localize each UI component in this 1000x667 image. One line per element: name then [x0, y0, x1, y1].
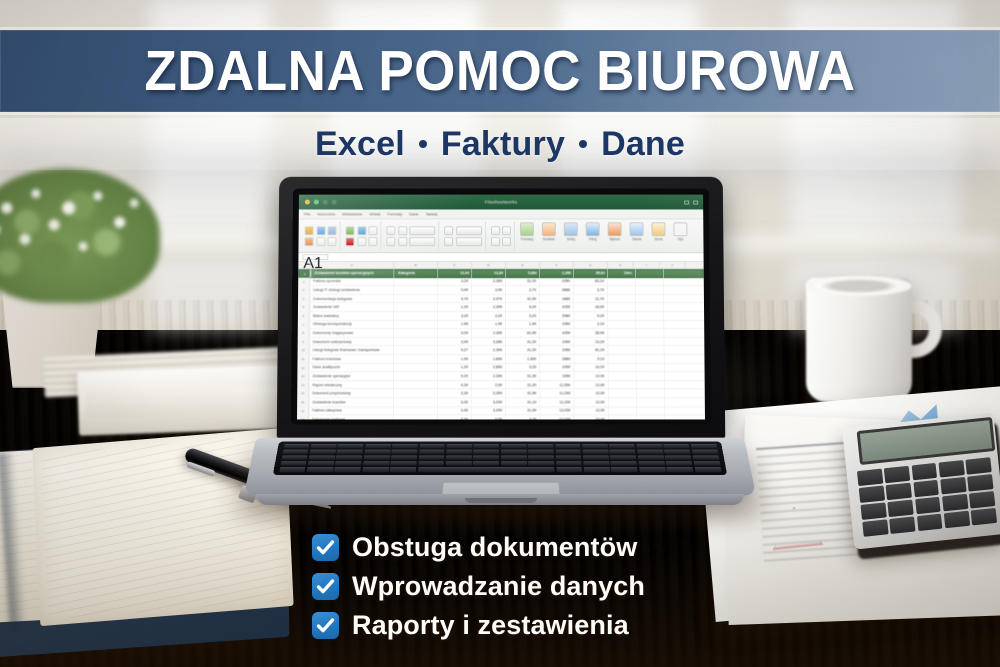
menu-item[interactable]: Widok	[369, 211, 380, 216]
cell-value[interactable]: 31,29	[506, 340, 540, 344]
column-header-e[interactable]: E	[506, 262, 540, 268]
cell-value[interactable]: 3,29	[438, 279, 472, 283]
list-item: Obstuga dokumentöw	[312, 532, 732, 563]
cell-value[interactable]: 11,039	[540, 400, 574, 404]
spreadsheet-grid[interactable]: 1Zestawienie kosztów operacyjnychKategor…	[297, 269, 705, 419]
mug-rim	[806, 276, 912, 296]
cell-value[interactable]: 31,99	[506, 391, 540, 395]
cell-value[interactable]: 19xx	[609, 271, 635, 275]
cell-description[interactable]: Dokumentacja ksiegowa	[310, 297, 394, 301]
laptop-lid-notch	[465, 498, 537, 503]
cell-value[interactable]: 1,396	[541, 271, 575, 275]
cell-value[interactable]: 3,289	[472, 340, 506, 344]
cell-description[interactable]: Zestawienie kosztów operacyjnych	[311, 271, 395, 275]
format-painter-icon[interactable]	[305, 237, 314, 246]
cell-description[interactable]: Ustugi ksiegowe finansowe i transportowe	[310, 348, 394, 352]
maximize-icon[interactable]	[693, 200, 698, 204]
cell-description[interactable]: Dokument przychodowy	[309, 391, 393, 395]
cell-value[interactable]: 13,44	[439, 271, 473, 275]
cell-value[interactable]: 3,39	[438, 400, 472, 404]
checklist-label: Obstuga dokumentöw	[352, 532, 637, 563]
spreadsheet-titlebar: Filesheetworkx	[299, 195, 703, 210]
merge-cells-button[interactable]	[409, 226, 435, 235]
ribbon-button-table[interactable]: Tabela	[627, 221, 647, 250]
cell-value[interactable]: 5,88x	[507, 271, 541, 275]
cell-value[interactable]: 3,99	[472, 288, 506, 292]
calculator-keys	[857, 457, 997, 537]
column-header-i[interactable]: I	[634, 262, 660, 268]
cell-value[interactable]: 81,29	[574, 348, 608, 352]
row-header[interactable]: 14	[297, 381, 309, 389]
bullet-separator-icon	[419, 140, 427, 148]
cell-value[interactable]: 13,84	[473, 271, 507, 275]
undo-icon[interactable]	[327, 237, 336, 246]
percent-icon[interactable]	[444, 226, 453, 235]
spreadsheet-title: Filesheetworkx	[299, 200, 703, 205]
cell-value[interactable]: 31,99	[506, 297, 540, 301]
cell-description[interactable]: Obstuga korespondencji	[310, 322, 394, 326]
row-header[interactable]: 1	[299, 270, 311, 277]
delete-cells-icon[interactable]	[502, 226, 511, 235]
cell-value[interactable]: 9,29	[574, 314, 608, 318]
cell-description[interactable]: Faktura zakupowa	[309, 409, 393, 413]
cell-value[interactable]: 1,999	[506, 357, 540, 361]
ribbon-button-format[interactable]: Formatuj	[517, 221, 537, 250]
cell-value[interactable]: 9,99	[438, 288, 472, 292]
table-row[interactable]: 5Zestawienie VAT1,292,3999,29105918,99	[298, 303, 704, 312]
italic-icon[interactable]	[357, 226, 366, 235]
align-center-icon[interactable]	[398, 226, 407, 235]
cell-value[interactable]: 13,99	[574, 391, 608, 395]
laptop-keyboard[interactable]	[277, 442, 723, 473]
format-cells-icon[interactable]	[491, 237, 500, 246]
ribbon-label: Suma	[654, 237, 662, 241]
borders-icon[interactable]	[368, 237, 377, 246]
sort-icon[interactable]	[564, 222, 578, 236]
plant-flowers	[0, 172, 156, 292]
cell-value[interactable]: 4,39	[438, 383, 472, 387]
cell-value[interactable]: 1,99	[472, 322, 506, 326]
ribbon-button-style[interactable]: Styl	[670, 221, 690, 250]
cell-value[interactable]: 1050	[540, 322, 574, 326]
cell-value[interactable]: 28,99	[574, 331, 608, 335]
menu-item[interactable]: Tabela	[426, 211, 438, 216]
cell-value[interactable]: 2,399	[472, 331, 506, 335]
cell-value[interactable]: 2,399	[472, 305, 506, 309]
cell-value[interactable]: 31,99	[506, 409, 540, 413]
cell-value[interactable]: 13,29	[574, 340, 608, 344]
cell-description[interactable]: Dokumenty magazynowe	[310, 331, 394, 335]
subtitle-part-dane: Dane	[601, 125, 685, 164]
cell-value[interactable]: 1059	[540, 331, 574, 335]
insert-cells-icon[interactable]	[491, 226, 500, 235]
row-header[interactable]: 11	[298, 355, 310, 363]
column-header-h[interactable]: H	[608, 262, 634, 268]
table-row[interactable]: 8Dokumenty magazynowe9,292,39981,9910592…	[298, 329, 705, 338]
cell-value[interactable]: 3,399	[472, 391, 506, 395]
cell-value[interactable]: 2,899	[472, 365, 506, 369]
table-row[interactable]: 18Dokumenty kadrowe3,393,993,2913,03913,…	[297, 416, 705, 420]
check-icon	[312, 573, 339, 600]
ribbon-label: Filtruj	[589, 237, 597, 241]
ribbon-button-sum[interactable]: Suma	[648, 221, 668, 250]
bold-icon[interactable]	[345, 226, 354, 235]
ribbon-group-font[interactable]	[342, 221, 381, 250]
table-format-icon[interactable]	[520, 222, 534, 236]
menu-item[interactable]: Formaty	[387, 211, 402, 216]
conditional-format-button[interactable]	[456, 226, 482, 235]
cell-value[interactable]: 81,99	[506, 331, 540, 335]
select-all-corner[interactable]	[298, 262, 310, 268]
cell-description[interactable]: Bilans kwartalny	[310, 314, 394, 318]
cell-description[interactable]: Raport miesieczny	[309, 383, 393, 387]
cell-value[interactable]: 31,39	[506, 374, 540, 378]
filter-icon[interactable]	[586, 222, 600, 236]
menu-item[interactable]: Wstawianie	[342, 211, 362, 216]
table-row[interactable]: 9Dokument rozliczeniowy3,993,28931,29105…	[298, 338, 705, 347]
row-header[interactable]: 6	[298, 312, 310, 320]
align-left-icon[interactable]	[386, 226, 395, 235]
cell-value[interactable]: 2886	[540, 288, 574, 292]
cell-value[interactable]: 13,29	[574, 365, 608, 369]
chart-icon[interactable]	[608, 222, 622, 236]
poster-subtitle: Excel Faktury Dane	[0, 118, 1000, 170]
column-header-b[interactable]: B	[394, 262, 438, 268]
cell-value[interactable]: 1050	[540, 279, 574, 283]
row-header[interactable]: 18	[297, 416, 309, 420]
table-row[interactable]: 3Ustugi IT obstugi zestawienia9,993,993,…	[298, 286, 704, 295]
cell-value[interactable]: 3,29	[438, 314, 472, 318]
table-row[interactable]: 10Ustugi ksiegowe finansowe i transporto…	[298, 346, 705, 355]
ribbon-group-styles[interactable]	[441, 221, 485, 250]
table-row[interactable]: 7Obstuga korespondencji1,991,991,9910503…	[298, 321, 704, 330]
list-item: Wprowadzanie danych	[312, 571, 732, 602]
cell-value[interactable]: 13,039	[540, 417, 574, 419]
poster-root: Filesheetworkx Plik Narzedzia Wstawianie…	[0, 0, 1000, 667]
checklist-label: Raporty i zestawienia	[352, 610, 629, 641]
cell-value[interactable]: 11,039	[540, 391, 574, 395]
name-box[interactable]: A1	[302, 254, 328, 260]
ribbon-group-clipboard[interactable]	[301, 221, 340, 250]
cell-value[interactable]: 85,6x	[575, 271, 609, 275]
table-row[interactable]: 4Dokumentacja ksiegowa9,792,97931,991889…	[298, 295, 704, 304]
number-format-select[interactable]	[409, 237, 435, 246]
cell-value[interactable]: 1059	[540, 348, 574, 352]
cut-icon[interactable]	[328, 226, 337, 235]
cell-value[interactable]: 2,399	[472, 374, 506, 378]
cell-value[interactable]: 3,299	[472, 400, 506, 404]
cell-value[interactable]: 13,99	[574, 374, 608, 378]
cell-value[interactable]: 13,99	[574, 417, 608, 419]
cell-value[interactable]: 11,79	[574, 297, 608, 301]
ribbon-group-alignment[interactable]	[383, 221, 439, 250]
cell-value[interactable]: 3,29	[506, 417, 540, 419]
cell-value[interactable]: 3,299	[472, 409, 506, 413]
ribbon-button-sort[interactable]: Sortuj	[561, 221, 581, 250]
bullet-separator-icon	[579, 140, 587, 148]
row-header[interactable]: 9	[298, 338, 310, 346]
laptop-screen: Filesheetworkx Plik Narzedzia Wstawianie…	[297, 195, 705, 420]
cell-value[interactable]: 3,79	[574, 288, 608, 292]
cell-value[interactable]: 2889	[540, 357, 574, 361]
cell-description[interactable]: Dokument rozliczeniowy	[310, 340, 394, 344]
minimize-icon[interactable]	[684, 200, 689, 204]
cell-value[interactable]: 1,99	[438, 322, 472, 326]
pivot-table-icon[interactable]	[630, 222, 644, 236]
menu-item[interactable]: Narzedzia	[317, 211, 335, 216]
row-header[interactable]: 12	[297, 364, 309, 372]
ribbon-button-merge[interactable]: Scalanie	[539, 221, 559, 250]
cell-value[interactable]: 1,899	[472, 357, 506, 361]
cell-value[interactable]: 13,99	[574, 400, 608, 404]
cell-description[interactable]: Zestawienie operacyjne	[309, 374, 393, 378]
checklist-label: Wprowadzanie danych	[352, 571, 645, 602]
cell-value[interactable]: 1059	[540, 340, 574, 344]
cell-description[interactable]: Dane analityczne	[309, 365, 393, 369]
cell-value[interactable]: 9,79	[438, 297, 472, 301]
spreadsheet-menubar[interactable]: Plik Narzedzia Wstawianie Widok Formaty …	[299, 209, 703, 219]
list-item: Raporty i zestawienia	[312, 610, 732, 641]
row-header[interactable]: 13	[297, 372, 309, 380]
feature-checklist: Obstuga dokumentöw Wprowadzanie danych R…	[312, 532, 732, 641]
table-row[interactable]: 16Zestawienie kosztów3,393,29931,1911,03…	[297, 398, 705, 407]
cell-value[interactable]: 1,29	[438, 365, 472, 369]
column-header-row[interactable]: A B C D E F G H I J	[298, 262, 703, 269]
ribbon-label: Formatuj	[521, 237, 534, 241]
fill-color-icon[interactable]	[357, 237, 366, 246]
cell-value[interactable]: 9,29	[438, 374, 472, 378]
column-header-c[interactable]: C	[438, 262, 472, 268]
cell-styles-button[interactable]	[456, 237, 482, 246]
autosum-icon[interactable]	[502, 237, 511, 246]
cell-value[interactable]: 1889	[540, 297, 574, 301]
styles-icon[interactable]	[673, 222, 687, 236]
table-row[interactable]: 2Faktura sprzedaz3,292,39931,29105083,19	[298, 278, 704, 287]
cell-value[interactable]: 13,99	[574, 409, 608, 413]
row-header[interactable]: 4	[298, 295, 310, 303]
cell-description[interactable]: Faktura kosztowa	[310, 357, 394, 361]
cell-value[interactable]: 3,99	[438, 340, 472, 344]
cell-value[interactable]: 11,059	[540, 383, 574, 387]
subtitle-part-faktury: Faktury	[441, 125, 565, 164]
column-header-a[interactable]: A	[310, 262, 394, 268]
copy-icon[interactable]	[316, 226, 325, 235]
comma-style-icon[interactable]	[444, 237, 453, 246]
cell-value[interactable]: 83,19	[574, 279, 608, 283]
column-header-j[interactable]: J	[660, 262, 686, 268]
coffee-mug	[806, 278, 912, 402]
cell-value[interactable]: 18,99	[574, 305, 608, 309]
cell-category[interactable]: Kategoria	[395, 271, 439, 275]
cell-description[interactable]: Dokumenty kadrowe	[309, 417, 393, 419]
font-color-icon[interactable]	[345, 237, 354, 246]
cell-value[interactable]: 1,99	[506, 322, 540, 326]
sum-icon[interactable]	[651, 222, 665, 236]
cell-value[interactable]: 31,19	[506, 400, 540, 404]
column-header-d[interactable]: D	[472, 262, 506, 268]
laptop: Filesheetworkx Plik Narzedzia Wstawianie…	[250, 176, 750, 516]
page-title: ZDALNA POMOC BIUROWA	[35, 30, 965, 112]
cell-value[interactable]: 3,79	[506, 288, 540, 292]
cell-value[interactable]: 31,29	[506, 279, 540, 283]
row-header[interactable]: 5	[298, 303, 310, 311]
cell-value[interactable]: 2089	[540, 314, 574, 318]
row-header[interactable]: 3	[298, 286, 310, 294]
laptop-screen-bezel: Filesheetworkx Plik Narzedzia Wstawianie…	[291, 189, 711, 425]
cell-value[interactable]: 13,99	[574, 383, 608, 387]
cell-value[interactable]: 13,039	[540, 409, 574, 413]
check-icon	[312, 612, 339, 639]
spreadsheet-ribbon[interactable]: Formatuj Scalanie Sortuj Filtruj	[298, 219, 703, 253]
ribbon-label: Wykres	[609, 237, 620, 241]
table-row[interactable]: 6Bilans kwartalny3,293,293,2920899,29	[298, 312, 704, 321]
cell-value[interactable]: 2,399	[472, 348, 506, 352]
cell-value[interactable]: 9,29	[438, 331, 472, 335]
cell-value[interactable]: 31,29	[506, 383, 540, 387]
cell-description[interactable]: Zestawienie VAT	[310, 305, 394, 309]
clipboard-icon[interactable]	[316, 237, 325, 246]
cell-value[interactable]: 9,27	[438, 348, 472, 352]
cell-value[interactable]: 1059	[540, 305, 574, 309]
table-row[interactable]: 14Raport miesieczny4,392,9931,2911,05913…	[297, 381, 704, 390]
table-row[interactable]: 17Faktura zakupowa3,393,29931,9913,03913…	[297, 407, 705, 416]
cell-description[interactable]: Faktura sprzedaz	[310, 279, 394, 283]
check-icon	[312, 534, 339, 561]
menu-item[interactable]: Plik	[304, 211, 310, 216]
cell-value[interactable]: 3,39	[438, 417, 472, 419]
cell-value[interactable]: 9,19	[574, 357, 608, 361]
merge-icon[interactable]	[542, 222, 556, 236]
formula-input[interactable]	[332, 254, 699, 260]
cell-value[interactable]: 2,99	[472, 383, 506, 387]
table-row[interactable]: 13Zestawienie operacyjne9,292,39931,3910…	[297, 372, 704, 381]
cell-value[interactable]: 3,29	[472, 314, 506, 318]
table-row[interactable]: 1Zestawienie kosztów operacyjnychKategor…	[298, 269, 704, 278]
ribbon-group-cells[interactable]	[488, 221, 515, 250]
cell-value[interactable]: 31,29	[506, 348, 540, 352]
cell-description[interactable]: Zestawienie kosztów	[309, 400, 393, 404]
cell-value[interactable]: 1059	[540, 374, 574, 378]
ribbon-button-chart[interactable]: Wykres	[605, 221, 625, 250]
table-row[interactable]: 15Dokument przychodowy3,393,39931,9911,0…	[297, 390, 705, 399]
cell-value[interactable]: 2,979	[472, 297, 506, 301]
formula-bar[interactable]: A1	[298, 253, 703, 262]
cell-value[interactable]: 1,99	[438, 357, 472, 361]
row-header[interactable]: 16	[297, 398, 309, 406]
row-header[interactable]: 17	[297, 407, 309, 415]
window-controls[interactable]	[684, 200, 698, 204]
cell-value[interactable]: 3,29	[506, 314, 540, 318]
row-header[interactable]: 15	[297, 390, 309, 398]
table-row[interactable]: 11Faktura kosztowa1,991,8991,99928899,19	[298, 355, 705, 364]
ribbon-label: Sortuj	[567, 237, 575, 241]
menu-item[interactable]: Dane	[409, 211, 419, 216]
column-header-g[interactable]: G	[574, 262, 608, 268]
row-header[interactable]: 8	[298, 329, 310, 337]
wrap-text-icon[interactable]	[386, 237, 395, 246]
ribbon-label: Tabela	[632, 237, 641, 241]
underline-icon[interactable]	[368, 226, 377, 235]
cell-value[interactable]: 3,39	[438, 391, 472, 395]
cell-value[interactable]: 3,39	[438, 409, 472, 413]
ribbon-button-filter[interactable]: Filtruj	[583, 221, 603, 250]
table-row[interactable]: 12Dane analityczne1,292,8993,29105913,29	[297, 364, 704, 373]
indent-icon[interactable]	[398, 237, 407, 246]
cell-value[interactable]: 3,29	[506, 365, 540, 369]
ribbon-label: Scalanie	[543, 237, 555, 241]
cell-value[interactable]: 9,29	[506, 305, 540, 309]
subtitle-part-excel: Excel	[315, 125, 405, 164]
paste-icon[interactable]	[305, 226, 314, 235]
column-header-f[interactable]: F	[540, 262, 574, 268]
cell-value[interactable]: 1059	[540, 365, 574, 369]
row-header[interactable]: 7	[298, 321, 310, 329]
cell-value[interactable]: 1,29	[438, 305, 472, 309]
cell-value[interactable]: 3,19	[574, 322, 608, 326]
row-header[interactable]: 2	[298, 278, 310, 286]
cell-value[interactable]: 3,99	[472, 417, 506, 419]
cell-value[interactable]: 2,399	[472, 279, 506, 283]
cell-description[interactable]: Ustugi IT obstugi zestawienia	[310, 288, 394, 292]
ribbon-label: Styl	[678, 237, 683, 241]
row-header[interactable]: 10	[298, 346, 310, 354]
